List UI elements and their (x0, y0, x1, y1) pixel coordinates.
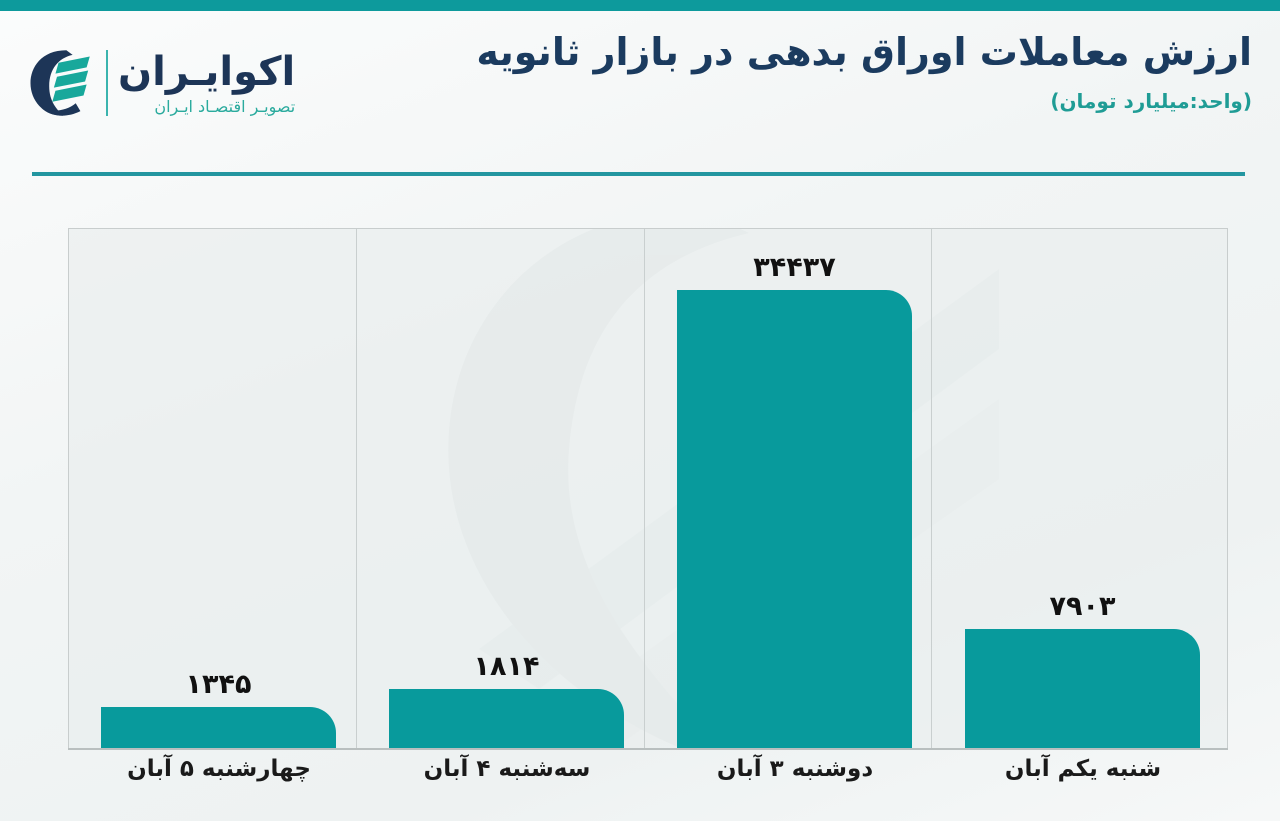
bar-1[interactable] (677, 290, 912, 748)
bar-value-label-2: ۱۸۱۴ (389, 651, 624, 682)
category-separator (644, 229, 645, 748)
bar-0[interactable] (965, 629, 1200, 748)
header: اکوایـران تصویـر اقتصـاد ایـران ارزش معا… (0, 11, 1280, 171)
infographic-page: اکوایـران تصویـر اقتصـاد ایـران ارزش معا… (0, 0, 1280, 821)
bar-value-label-3: ۱۳۴۵ (101, 669, 336, 700)
bar-value-label-1: ۳۴۴۳۷ (677, 252, 912, 283)
top-accent-bar (0, 0, 1280, 11)
bar-3[interactable] (101, 707, 336, 748)
page-title: ارزش معاملات اوراق بدهی در بازار ثانویه (352, 29, 1252, 77)
bar-2[interactable] (389, 689, 624, 748)
unit-subtitle: (واحد:میلیارد تومان) (352, 89, 1252, 113)
logo-divider (106, 50, 108, 116)
plot-area: ۷۹۰۳ ۳۴۴۳۷ ۱۸۱۴ ۱۳۴۵ (68, 228, 1228, 748)
x-axis-labels: شنبه یکم آبان دوشنبه ۳ آبان سه‌شنبه ۴ آب… (68, 756, 1228, 812)
category-separator (356, 229, 357, 748)
bar-value-label-0: ۷۹۰۳ (965, 591, 1200, 622)
x-axis-label-0: شنبه یکم آبان (948, 756, 1218, 782)
logo-name: اکوایـران (118, 52, 295, 92)
title-block: ارزش معاملات اوراق بدهی در بازار ثانویه … (352, 29, 1252, 113)
header-divider (32, 172, 1245, 176)
x-axis-label-1: دوشنبه ۳ آبان (660, 756, 930, 782)
eco-iran-swoosh-logo-icon (18, 43, 96, 123)
x-axis-label-3: چهارشنبه ۵ آبان (84, 756, 354, 782)
brand-logo: اکوایـران تصویـر اقتصـاد ایـران (18, 33, 318, 133)
logo-wordmark: اکوایـران تصویـر اقتصـاد ایـران (118, 52, 295, 115)
axis-baseline (68, 748, 1228, 750)
category-separator (931, 229, 932, 748)
logo-tagline: تصویـر اقتصـاد ایـران (154, 99, 295, 115)
x-axis-label-2: سه‌شنبه ۴ آبان (372, 756, 642, 782)
chart-container: ۷۹۰۳ ۳۴۴۳۷ ۱۸۱۴ ۱۳۴۵ (68, 228, 1228, 748)
